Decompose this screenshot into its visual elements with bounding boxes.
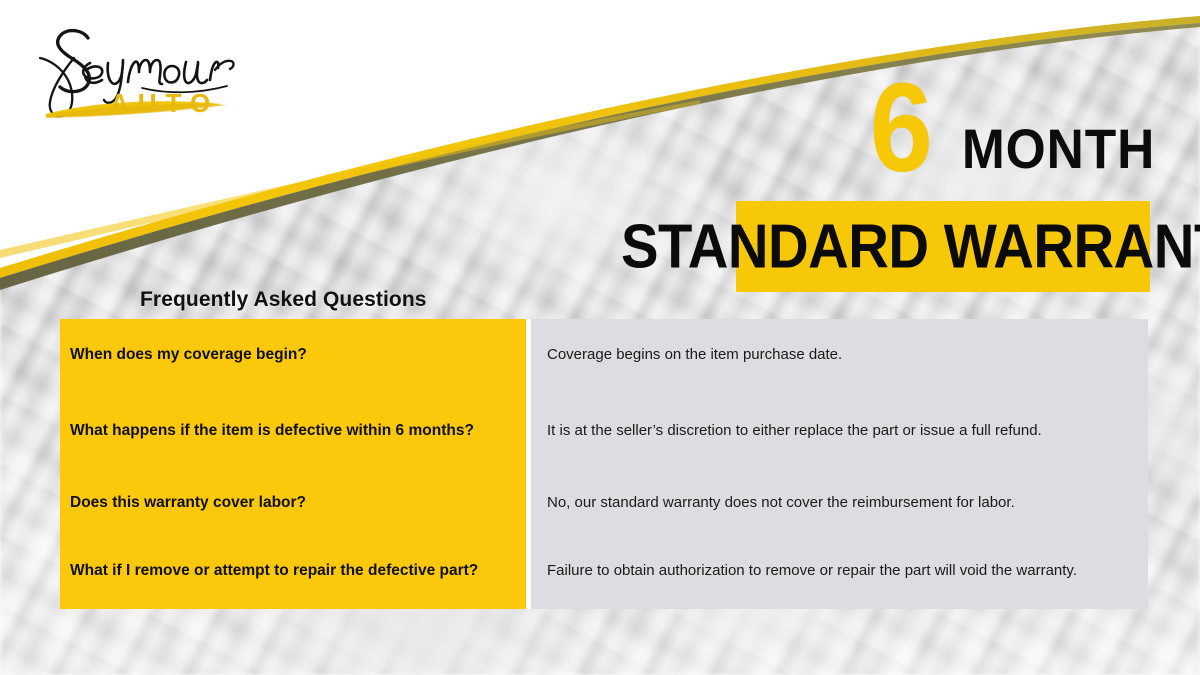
- faq-question-cell: Does this warranty cover labor?: [60, 472, 526, 534]
- warranty-slide: AUTO 6 MONTH STANDARD WARRANTY Frequentl…: [0, 0, 1200, 675]
- faq-answer-cell: Coverage begins on the item purchase dat…: [526, 319, 1148, 391]
- banner-title: STANDARD WARRANTY: [621, 215, 1200, 277]
- table-row: What if I remove or attempt to repair th…: [60, 534, 1148, 609]
- table-row: What happens if the item is defective wi…: [60, 391, 1148, 472]
- faq-answer-cell: No, our standard warranty does not cover…: [526, 472, 1148, 534]
- faq-table: When does my coverage begin? Coverage be…: [60, 319, 1148, 609]
- table-row: When does my coverage begin? Coverage be…: [60, 319, 1148, 391]
- faq-question-cell: When does my coverage begin?: [60, 319, 526, 391]
- table-row: Does this warranty cover labor? No, our …: [60, 472, 1148, 534]
- faq-question-cell: What if I remove or attempt to repair th…: [60, 534, 526, 609]
- duration-number: 6: [869, 78, 930, 179]
- faq-answer-cell: It is at the seller’s discretion to eith…: [526, 391, 1148, 472]
- duration-unit-label: MONTH: [962, 124, 1155, 173]
- standard-warranty-banner: STANDARD WARRANTY: [736, 201, 1150, 292]
- warranty-duration-group: 6 MONTH: [0, 78, 1155, 179]
- faq-answer-cell: Failure to obtain authorization to remov…: [526, 534, 1148, 609]
- faq-question-cell: What happens if the item is defective wi…: [60, 391, 526, 472]
- faq-heading: Frequently Asked Questions: [140, 288, 427, 312]
